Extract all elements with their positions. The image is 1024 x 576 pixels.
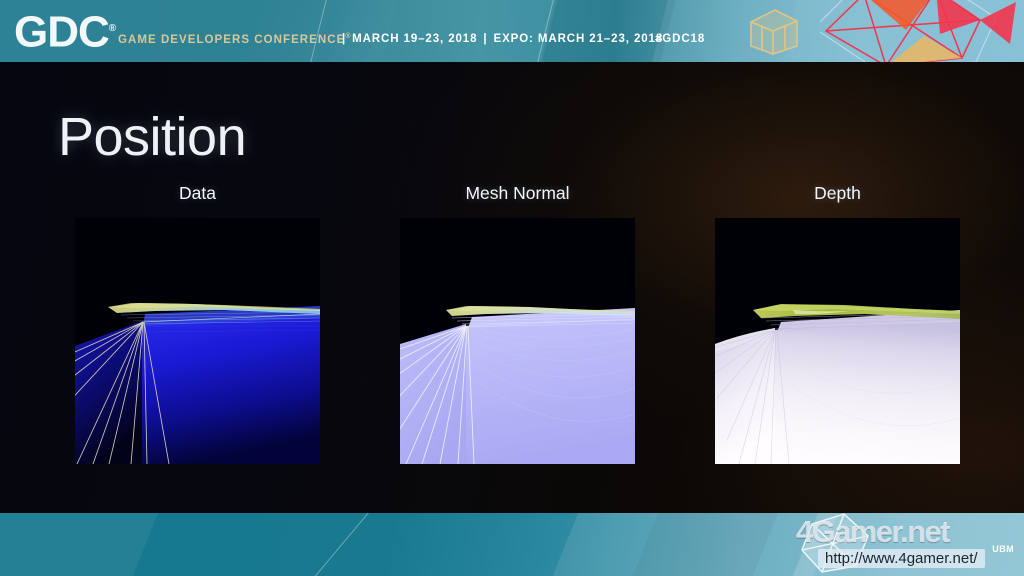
watermark-url[interactable]: http://www.4gamer.net/ xyxy=(818,549,985,568)
banner-tagline: GAME DEVELOPERS CONFERENCE® xyxy=(118,33,352,46)
banner-conference-dates: MARCH 19–23, 2018 xyxy=(352,33,477,45)
red-polygon-icon xyxy=(820,0,1020,62)
banner-tagline-text: GAME DEVELOPERS CONFERENCE xyxy=(118,34,345,46)
banner-facet xyxy=(382,0,557,62)
slide-body: Position Data Mesh Normal Depth xyxy=(0,62,1024,513)
banner-expo-dates: EXPO: MARCH 21–23, 2018 xyxy=(494,33,664,45)
banner-hashtag: #GDC18 xyxy=(655,33,705,45)
slide-screenshot: GDC® GAME DEVELOPERS CONFERENCE® |MARCH … xyxy=(0,0,1024,576)
render-panel-mesh-normal xyxy=(400,218,635,464)
banner-dates: |MARCH 19–23, 2018|EXPO: MARCH 21–23, 20… xyxy=(336,33,663,45)
mesh-normal-buffer-render xyxy=(400,218,635,464)
render-panel-data xyxy=(75,218,320,464)
watermark-publisher: UBM xyxy=(992,544,1014,554)
page-title: Position xyxy=(58,106,246,168)
gdc-logo-registered-mark: ® xyxy=(109,23,115,34)
watermark-logo-text: 4Gamer.net xyxy=(796,514,1014,550)
gdc-logo: GDC® xyxy=(14,5,106,53)
column-label-mesh-normal: Mesh Normal xyxy=(400,183,635,204)
banner-separator-2: | xyxy=(477,33,493,45)
render-panel-depth xyxy=(715,218,960,464)
wireframe-cube-icon xyxy=(745,6,803,56)
column-label-data: Data xyxy=(75,183,320,204)
gdc-header-banner: GDC® GAME DEVELOPERS CONFERENCE® |MARCH … xyxy=(0,0,1024,62)
depth-buffer-render xyxy=(715,218,960,464)
watermark: 4Gamer.net UBM http://www.4gamer.net/ xyxy=(782,513,1022,576)
footer-facet xyxy=(0,513,166,576)
data-buffer-render xyxy=(75,218,320,464)
banner-facet xyxy=(242,0,397,62)
footer-hairline xyxy=(284,513,377,576)
gdc-footer-banner: 4Gamer.net UBM http://www.4gamer.net/ xyxy=(0,513,1024,576)
gdc-logo-text: GDC xyxy=(14,8,109,57)
column-label-depth: Depth xyxy=(715,183,960,204)
banner-separator-1: | xyxy=(336,33,352,45)
